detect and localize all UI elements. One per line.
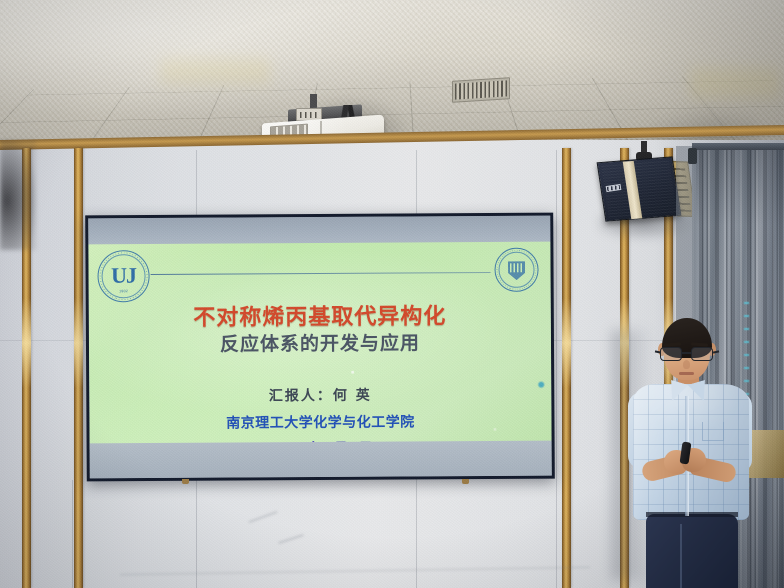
wall-trim-column bbox=[562, 148, 571, 588]
waistband bbox=[646, 512, 738, 517]
slide-affiliation: 南京理工大学化学与化工学院 bbox=[89, 411, 551, 434]
presentation-slide: UJ 1902 不对称烯丙基取代异构化 反应体系的开发与应用 汇报人：何 英 bbox=[88, 242, 551, 450]
mouth bbox=[679, 372, 694, 375]
slide-presenter-block: 汇报人：何 英 南京理工大学化学与化工学院 2025年6月5日 bbox=[89, 384, 551, 450]
jiangsu-university-seal-logo: UJ 1902 bbox=[97, 250, 149, 302]
wall-dark-recess bbox=[0, 140, 36, 250]
navy-trousers bbox=[646, 514, 738, 588]
slide-title-line2: 反应体系的开发与应用 bbox=[89, 332, 551, 358]
projection-screen: UJ 1902 不对称烯丙基取代异构化 反应体系的开发与应用 汇报人：何 英 bbox=[85, 213, 555, 482]
conference-room-photo: UJ 1902 不对称烯丙基取代异构化 反应体系的开发与应用 汇报人：何 英 bbox=[0, 0, 784, 588]
seal-monogram: UJ bbox=[111, 263, 136, 289]
eyeglasses bbox=[659, 347, 715, 361]
glasses-temple-right bbox=[713, 350, 719, 353]
slide-speck bbox=[493, 428, 496, 431]
njust-seal-logo bbox=[494, 248, 538, 292]
shirt-pocket bbox=[702, 422, 724, 441]
hvac-vent-grille bbox=[452, 77, 510, 103]
nose bbox=[683, 360, 690, 369]
glasses-bridge bbox=[682, 352, 692, 354]
lens-left bbox=[660, 347, 682, 361]
screen-letterbox-bottom bbox=[90, 441, 552, 479]
trouser-seam bbox=[680, 524, 682, 588]
curtain-rail-bracket bbox=[688, 148, 697, 164]
wall-scuff bbox=[278, 534, 303, 544]
curtain-rail bbox=[692, 143, 784, 150]
wall-seam-line bbox=[120, 566, 590, 575]
slide-speck bbox=[351, 371, 354, 374]
slide-title-block: 不对称烯丙基取代异构化 反应体系的开发与应用 bbox=[89, 304, 551, 358]
wall-panel-seam bbox=[556, 150, 557, 588]
seal-year: 1902 bbox=[119, 289, 128, 293]
screen-letterbox-top bbox=[88, 216, 550, 245]
lens-right bbox=[691, 347, 713, 361]
screen-mount-bracket bbox=[462, 479, 469, 484]
wall-panel-seam bbox=[72, 480, 73, 588]
screen-surface: UJ 1902 不对称烯丙基取代异构化 反应体系的开发与应用 汇报人：何 英 bbox=[88, 216, 552, 479]
vent-slats bbox=[455, 80, 507, 99]
screen-mount-bracket bbox=[182, 479, 189, 484]
projected-cursor-dot bbox=[538, 382, 544, 388]
slide-title-line1: 不对称烯丙基取代异构化 bbox=[89, 304, 551, 333]
glasses-temple-left bbox=[655, 350, 661, 353]
presenter-standing bbox=[628, 318, 758, 588]
wall-trim-column bbox=[74, 148, 83, 588]
slide-presenter-name: 汇报人：何 英 bbox=[89, 384, 551, 407]
wall-scuff bbox=[249, 511, 278, 523]
